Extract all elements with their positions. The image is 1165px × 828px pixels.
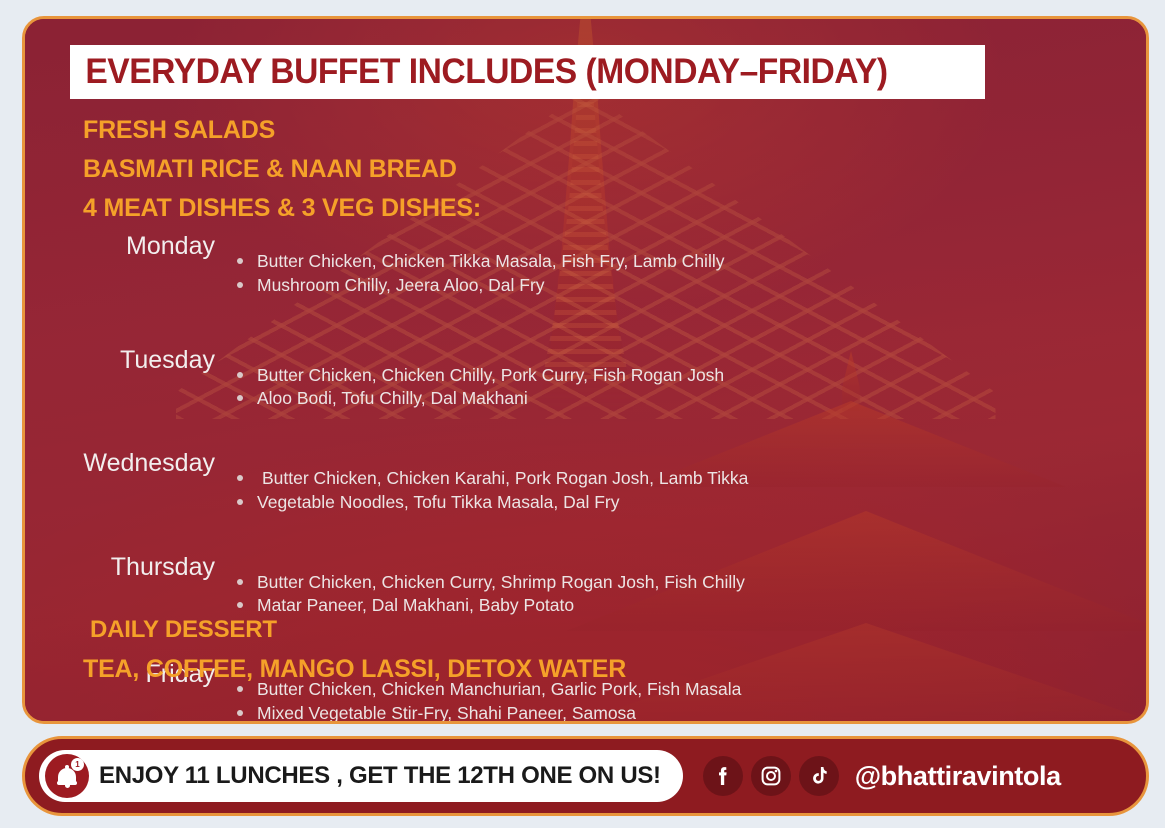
- buffet-poster: EVERYDAY BUFFET INCLUDES (MONDAY–FRIDAY)…: [0, 0, 1165, 828]
- bell-icon: 1: [45, 754, 89, 798]
- dish-list-monday: Butter Chicken, Chicken Tikka Masala, Fi…: [231, 250, 724, 298]
- heading-daily-dessert: DAILY DESSERT: [90, 616, 277, 644]
- poster-title-bar: EVERYDAY BUFFET INCLUDES (MONDAY–FRIDAY): [70, 45, 985, 99]
- dish-line-meat: Butter Chicken, Chicken Tikka Masala, Fi…: [231, 250, 724, 273]
- social-handle[interactable]: @bhattiravintola: [855, 761, 1061, 792]
- heading-drinks: TEA, COFFEE, MANGO LASSI, DETOX WATER: [83, 655, 626, 684]
- main-panel: EVERYDAY BUFFET INCLUDES (MONDAY–FRIDAY)…: [22, 16, 1149, 724]
- dish-list-wednesday: Butter Chicken, Chicken Karahi, Pork Rog…: [231, 467, 748, 515]
- heading-dish-count: 4 MEAT DISHES & 3 VEG DISHES:: [83, 194, 481, 223]
- dish-line-meat: Butter Chicken, Chicken Curry, Shrimp Ro…: [231, 571, 745, 594]
- dish-line-veg: Mushroom Chilly, Jeera Aloo, Dal Fry: [231, 274, 724, 297]
- page-title: EVERYDAY BUFFET INCLUDES (MONDAY–FRIDAY): [70, 52, 888, 92]
- dish-line-meat: Butter Chicken, Chicken Chilly, Pork Cur…: [231, 364, 724, 387]
- dish-line-veg: Mixed Vegetable Stir-Fry, Shahi Paneer, …: [231, 702, 741, 724]
- dish-line-veg: Vegetable Noodles, Tofu Tikka Masala, Da…: [231, 491, 748, 514]
- day-label-tuesday: Tuesday: [25, 348, 215, 373]
- bell-clapper: [65, 784, 70, 788]
- day-row-wednesday: Wednesday Butter Chicken, Chicken Karahi…: [25, 451, 1146, 531]
- dish-list-friday: Butter Chicken, Chicken Manchurian, Garl…: [231, 678, 741, 724]
- offer-text: ENJOY 11 LUNCHES , GET THE 12TH ONE ON U…: [99, 762, 661, 790]
- bell-knob: [65, 765, 69, 769]
- day-row-tuesday: Tuesday Butter Chicken, Chicken Chilly, …: [25, 348, 1146, 428]
- day-label-monday: Monday: [25, 234, 215, 259]
- day-row-monday: Monday Butter Chicken, Chicken Tikka Mas…: [25, 234, 1146, 314]
- day-label-wednesday: Wednesday: [25, 451, 215, 476]
- tiktok-icon[interactable]: [799, 756, 839, 796]
- dish-line-veg: Matar Paneer, Dal Makhani, Baby Potato: [231, 594, 745, 617]
- facebook-icon[interactable]: [703, 756, 743, 796]
- heading-fresh-salads: FRESH SALADS: [83, 116, 275, 145]
- offer-pill: 1 ENJOY 11 LUNCHES , GET THE 12TH ONE ON…: [39, 750, 683, 802]
- dish-list-tuesday: Butter Chicken, Chicken Chilly, Pork Cur…: [231, 364, 724, 412]
- heading-rice-naan: BASMATI RICE & NAAN BREAD: [83, 155, 457, 184]
- weekday-menu-list: Monday Butter Chicken, Chicken Tikka Mas…: [25, 234, 1146, 724]
- bell-badge-count: 1: [71, 758, 84, 771]
- dish-line-veg: Aloo Bodi, Tofu Chilly, Dal Makhani: [231, 387, 724, 410]
- instagram-icon[interactable]: [751, 756, 791, 796]
- dish-line-meat: Butter Chicken, Chicken Karahi, Pork Rog…: [231, 467, 748, 490]
- dish-list-thursday: Butter Chicken, Chicken Curry, Shrimp Ro…: [231, 571, 745, 619]
- offer-banner: 1 ENJOY 11 LUNCHES , GET THE 12TH ONE ON…: [22, 736, 1149, 816]
- day-label-thursday: Thursday: [25, 555, 215, 580]
- social-links: [703, 756, 839, 796]
